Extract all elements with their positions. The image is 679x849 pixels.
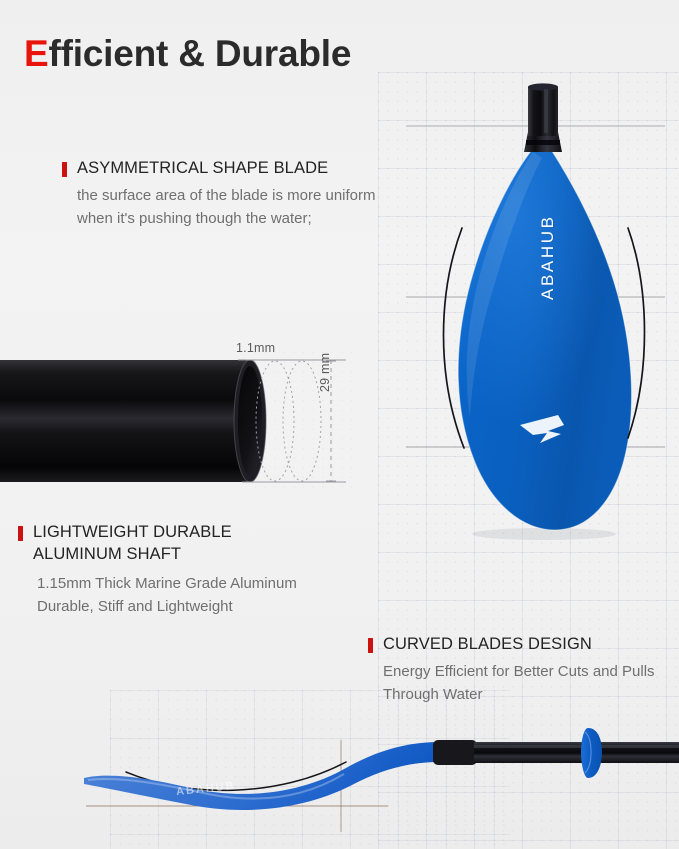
feature-asymmetrical-shape-blade: ASYMMETRICAL SHAPE BLADE the surface are… [62, 158, 382, 230]
paddle-profile-illustration [78, 710, 679, 849]
shaft-diagram-svg [0, 352, 359, 497]
blade-shadow [472, 528, 616, 540]
feature-body: the surface area of the blade is more un… [77, 184, 382, 231]
blade-svg [392, 78, 679, 548]
bullet-marker-icon [368, 638, 373, 653]
blade-sheen [458, 146, 631, 530]
feature-heading-row: CURVED BLADES DESIGN [368, 634, 658, 656]
shaft-thickness-label: 1.1mm [236, 341, 275, 355]
shaft-diameter-label: 29 mm [318, 353, 332, 392]
collar-groove [526, 140, 560, 145]
feature-body: Energy Efficient for Better Cuts and Pul… [383, 660, 658, 707]
feature-heading-row: ASYMMETRICAL SHAPE BLADE [62, 158, 382, 180]
feature-heading: ASYMMETRICAL SHAPE BLADE [77, 158, 328, 180]
page-title: Efficient & Durable [24, 33, 351, 75]
tube-bore [238, 366, 262, 476]
tube-body [0, 360, 250, 482]
profile-ferrule [433, 740, 477, 765]
cross-section-ellipse-2 [283, 361, 321, 481]
infographic-page: Efficient & Durable [0, 0, 679, 849]
shaft-stub [528, 86, 558, 136]
aluminum-shaft-diagram [0, 352, 359, 497]
title-rest: fficient & Durable [48, 33, 351, 74]
blade-illustration: ABAHUB [392, 78, 679, 548]
feature-lightweight-durable-aluminum-shaft: LIGHTWEIGHT DURABLE ALUMINUM SHAFT 1.15m… [18, 522, 318, 618]
feature-body: 1.15mm Thick Marine Grade Aluminum Durab… [37, 572, 318, 619]
bullet-marker-icon [62, 162, 67, 177]
shaft-stub-sheen [544, 89, 548, 133]
feature-heading-row: LIGHTWEIGHT DURABLE ALUMINUM SHAFT [18, 522, 318, 566]
profile-svg [78, 710, 679, 849]
bullet-marker-icon [18, 526, 23, 541]
profile-shaft-sheen [474, 745, 679, 748]
feature-curved-blades-design: CURVED BLADES DESIGN Energy Efficient fo… [368, 634, 658, 706]
title-accent-letter: E [24, 33, 48, 74]
feature-heading: LIGHTWEIGHT DURABLE ALUMINUM SHAFT [33, 522, 318, 566]
blade-brand-text: ABAHUB [538, 214, 558, 300]
shaft-stub-top [528, 83, 558, 90]
feature-heading: CURVED BLADES DESIGN [383, 634, 592, 656]
